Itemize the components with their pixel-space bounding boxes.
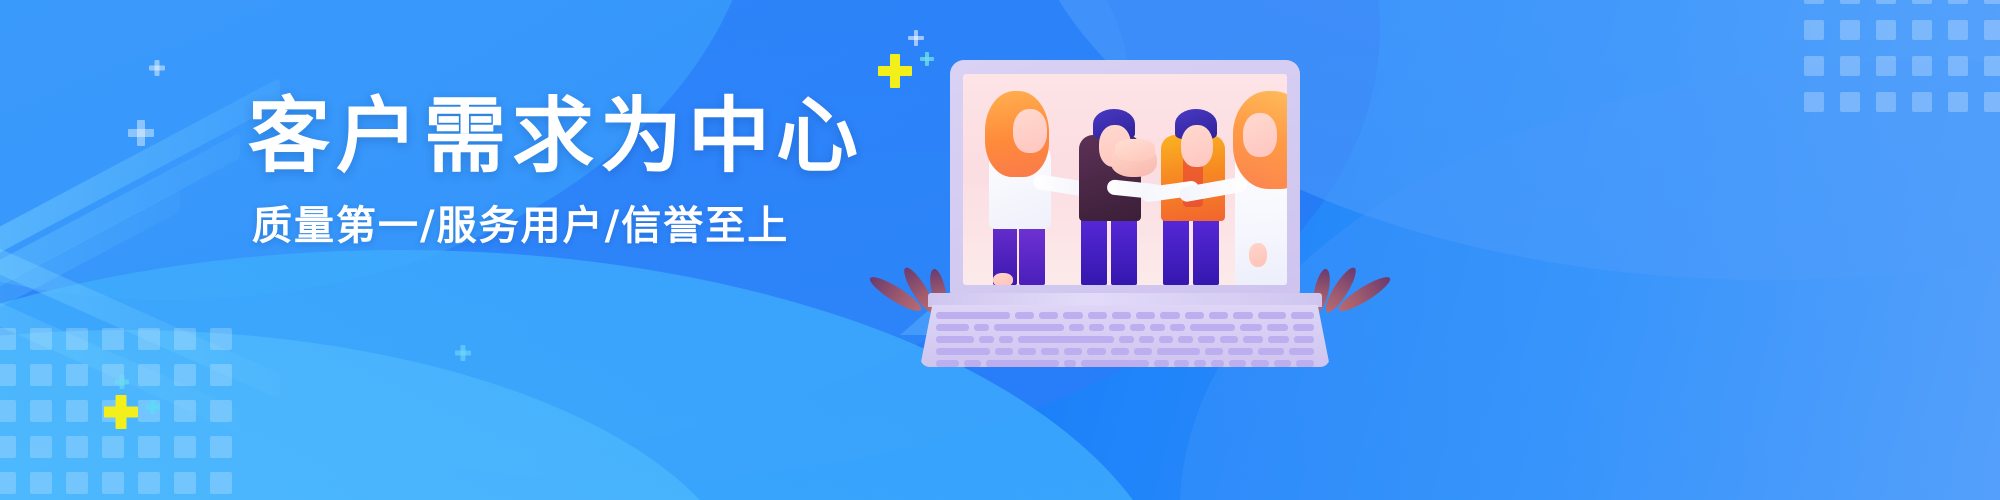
keyboard-key: [1274, 360, 1292, 367]
keyboard-key: [974, 324, 989, 331]
dot-cell: [1912, 0, 1932, 4]
keyboard-key: [1109, 324, 1124, 331]
plus-cyan-bottom2: [115, 375, 129, 389]
dot-cell: [102, 328, 124, 350]
keyboard-key: [1205, 348, 1223, 355]
keyboard-key: [1063, 312, 1082, 319]
dot-cell: [102, 436, 124, 458]
dot-cell: [174, 328, 196, 350]
keyboard-key: [1291, 312, 1313, 319]
dot-cell: [174, 472, 196, 494]
keyboard-key: [1174, 360, 1189, 367]
keyboard-key: [1112, 312, 1131, 319]
keyboard-key: [1018, 348, 1036, 355]
foot: [993, 273, 1013, 285]
dot-cell: [210, 472, 232, 494]
keyboard-key: [1198, 336, 1216, 343]
head: [1243, 113, 1277, 157]
dot-cell: [30, 400, 52, 422]
leg: [1163, 211, 1189, 285]
dot-cell: [138, 364, 160, 386]
dot-cell: [30, 364, 52, 386]
person-man-dark: [1071, 87, 1155, 285]
person-woman-right: [1221, 89, 1287, 285]
keyboard-key: [1157, 348, 1200, 355]
plus-cyan-bottom: [146, 400, 160, 414]
keyboard-key: [1018, 336, 1114, 343]
plus-white-left-a: [149, 60, 165, 76]
keyboard-key: [1087, 348, 1105, 355]
dot-cell: [1912, 56, 1932, 76]
keyboard-key: [936, 348, 990, 355]
keyboard-key: [1154, 360, 1169, 367]
headline-block: 客户需求为中心 质量第一/服务用户/信誉至上: [248, 96, 808, 246]
keyboard-key: [1233, 312, 1252, 319]
keyboard-key: [1089, 324, 1104, 331]
keyboard-key: [994, 324, 1064, 331]
dot-cell: [102, 472, 124, 494]
dot-cell: [1984, 20, 2000, 40]
keyboard-key: [1130, 324, 1145, 331]
page-title: 客户需求为中心: [248, 96, 808, 178]
dot-cell: [210, 400, 232, 422]
keyboard-key: [1150, 324, 1165, 331]
dot-cell: [30, 436, 52, 458]
keyboard-key: [1119, 336, 1134, 343]
keyboard-key: [1134, 348, 1152, 355]
keyboard-row: [936, 360, 1314, 367]
keyboard-key: [1240, 324, 1261, 331]
dot-cell: [210, 364, 232, 386]
dot-cell: [1948, 92, 1968, 112]
laptop-illustration: [920, 60, 1340, 360]
plus-yellow-top: [878, 54, 912, 88]
dot-cell: [0, 328, 16, 350]
keyboard-key: [1170, 324, 1185, 331]
keyboard-key: [1041, 348, 1059, 355]
dot-cell: [1948, 20, 1968, 40]
keyboard-row: [936, 324, 1314, 331]
dot-cell: [1804, 20, 1824, 40]
keyboard-row: [936, 312, 1314, 319]
keyboard-key: [1136, 312, 1155, 319]
dot-cell: [1984, 92, 2000, 112]
dot-cell: [30, 328, 52, 350]
keyboard-key: [1251, 360, 1269, 367]
keyboard-key: [1209, 312, 1228, 319]
dot-cell: [0, 364, 16, 386]
keyboard-key: [995, 348, 1013, 355]
keyboard-key: [1243, 336, 1263, 343]
keyboard-key: [936, 312, 1010, 319]
keyboard-key: [1081, 360, 1149, 367]
laptop-keyboard: [920, 305, 1330, 367]
keyboard-row: [936, 348, 1314, 355]
keyboard-key: [1258, 348, 1283, 355]
plus-white-left-b: [128, 120, 154, 146]
hand: [1249, 243, 1267, 267]
joined-hands-upper: [1115, 139, 1155, 161]
keyboard-key: [1258, 312, 1287, 319]
dot-cell: [1804, 0, 1824, 4]
plus-white-topsmall: [908, 30, 924, 46]
dot-cell: [1948, 0, 1968, 4]
dot-cell: [210, 328, 232, 350]
dot-cell: [1912, 92, 1932, 112]
keyboard-key: [1015, 312, 1034, 319]
plus-cyan-center: [455, 345, 471, 361]
dot-cell: [66, 328, 88, 350]
keyboard-key: [1293, 324, 1314, 331]
leg: [1193, 211, 1219, 285]
dot-cell: [138, 472, 160, 494]
keyboard-key: [979, 336, 994, 343]
laptop-base-edge: [928, 293, 1322, 307]
leg: [1111, 211, 1137, 285]
keyboard-key: [1229, 360, 1247, 367]
dot-cell: [1840, 20, 1860, 40]
dot-cell: [174, 364, 196, 386]
keyboard-key: [1069, 324, 1084, 331]
keyboard-key: [1220, 336, 1238, 343]
keyboard-key: [1294, 336, 1314, 343]
promo-banner: 客户需求为中心 质量第一/服务用户/信誉至上: [0, 0, 2000, 500]
keyboard-key: [1178, 336, 1193, 343]
keyboard-key: [986, 360, 1059, 367]
dot-cell: [30, 472, 52, 494]
dot-cell: [1840, 92, 1860, 112]
dot-cell: [1876, 92, 1896, 112]
dot-cell: [1840, 0, 1860, 4]
dot-cell: [174, 400, 196, 422]
dot-cell: [66, 472, 88, 494]
dot-cell: [1984, 56, 2000, 76]
keyboard-key: [1194, 360, 1207, 367]
dot-cell: [66, 364, 88, 386]
keyboard-key: [1268, 336, 1288, 343]
laptop-lid: [950, 60, 1300, 295]
dot-cell: [174, 436, 196, 458]
keyboard-key: [1185, 312, 1204, 319]
keyboard-row: [936, 336, 1314, 343]
dot-cell: [1912, 20, 1932, 40]
keyboard-key: [1267, 324, 1288, 331]
dot-cell: [0, 436, 16, 458]
dot-cell: [1876, 20, 1896, 40]
keyboard-key: [1190, 324, 1235, 331]
person-woman-left: [979, 100, 1069, 285]
page-subtitle: 质量第一/服务用户/信誉至上: [252, 206, 808, 246]
dot-grid-top-right: [1804, 0, 2000, 112]
keyboard-key: [1039, 312, 1058, 319]
dot-cell: [1804, 92, 1824, 112]
dot-cell: [1948, 56, 1968, 76]
head: [1013, 109, 1047, 153]
keyboard-key: [1296, 360, 1314, 367]
keyboard-key: [936, 360, 959, 367]
keyboard-key: [936, 324, 969, 331]
keyboard-key: [1111, 348, 1129, 355]
dot-cell: [1876, 0, 1896, 4]
keyboard-key: [1064, 360, 1077, 367]
keyboard-key: [964, 360, 982, 367]
dot-cell: [138, 436, 160, 458]
keyboard-key: [1088, 312, 1107, 319]
dot-cell: [66, 400, 88, 422]
keyboard-key: [1139, 336, 1154, 343]
keyboard-key: [1289, 348, 1314, 355]
dot-cell: [66, 436, 88, 458]
keyboard-key: [1159, 336, 1174, 343]
head: [1181, 125, 1213, 167]
dot-cell: [1840, 56, 1860, 76]
dot-cell: [1804, 56, 1824, 76]
keyboard-key: [1064, 348, 1082, 355]
dot-cell: [1876, 56, 1896, 76]
plus-yellow-bottom: [104, 395, 138, 429]
keyboard-key: [999, 336, 1014, 343]
leg: [1081, 211, 1107, 285]
keyboard-key: [1160, 312, 1179, 319]
dot-cell: [1984, 0, 2000, 4]
keyboard-key: [1228, 348, 1253, 355]
dot-cell: [0, 472, 16, 494]
dot-cell: [138, 328, 160, 350]
keyboard-key: [936, 336, 974, 343]
dot-cell: [210, 436, 232, 458]
laptop-screen: [963, 74, 1287, 285]
keyboard-key: [1211, 360, 1224, 367]
dot-cell: [0, 400, 16, 422]
